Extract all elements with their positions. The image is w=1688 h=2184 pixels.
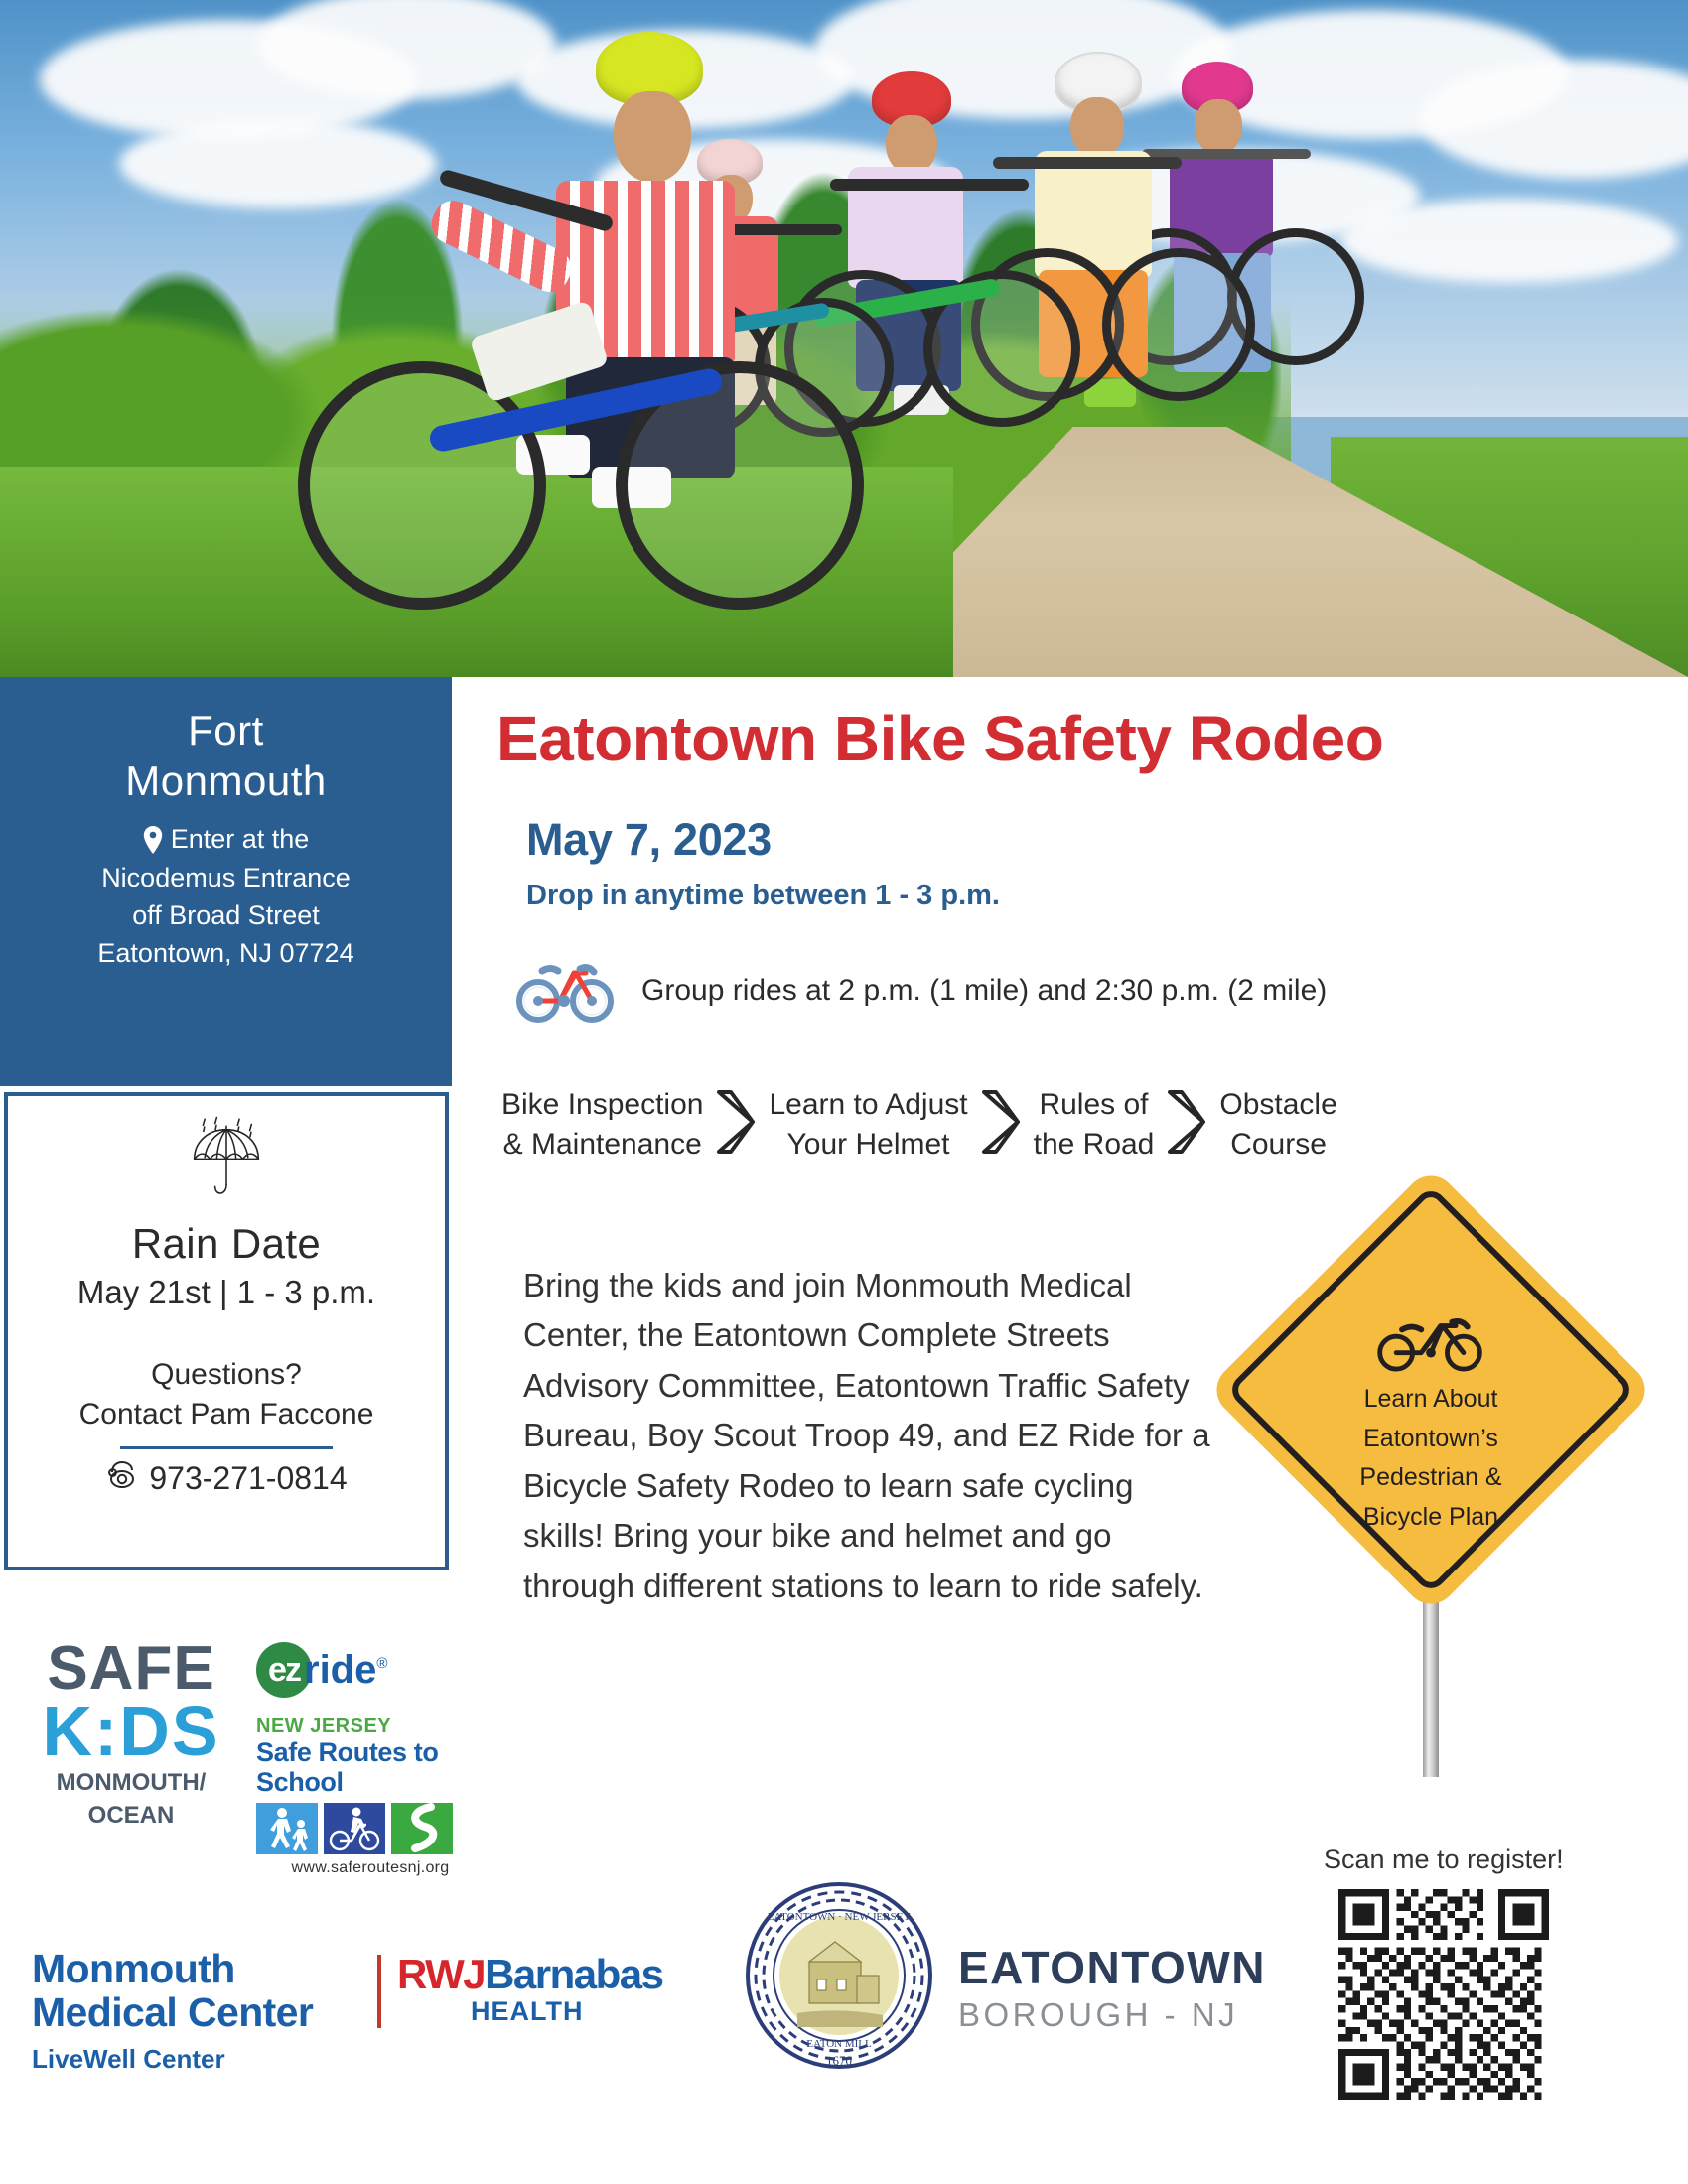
address-line-1-wrap: Enter at the <box>22 820 430 858</box>
rwj-initials: RWJ <box>397 1951 485 1997</box>
eatontown-wordmark: EATONTOWN BOROUGH - NJ <box>958 1941 1266 2034</box>
safe-routes-logo: NEW JERSEY Safe Routes to School <box>256 1715 485 1877</box>
chevron-right-icon <box>1164 1086 1209 1162</box>
safe-routes-name: Safe Routes to School <box>256 1738 485 1797</box>
rain-date-title: Rain Date <box>8 1220 445 1268</box>
sign-line-2: Eatontown’s <box>1296 1423 1566 1456</box>
group-rides-row: Group rides at 2 p.m. (1 mile) and 2:30 … <box>516 953 1327 1027</box>
qr-label: Scan me to register! <box>1324 1844 1564 1875</box>
bicycle-icon <box>516 953 616 1027</box>
bicycle-icon <box>1372 1359 1489 1376</box>
mmc-subtitle: LiveWell Center <box>32 2044 313 2075</box>
station-step: Learn to Adjust Your Helmet <box>769 1085 967 1163</box>
phone-row[interactable]: 973-271-0814 <box>8 1459 445 1497</box>
contact-name: Contact Pam Faccone <box>8 1395 445 1434</box>
divider <box>120 1446 333 1449</box>
safe-routes-state: NEW JERSEY <box>256 1715 485 1738</box>
body-paragraph: Bring the kids and join Monmouth Medical… <box>523 1261 1218 1611</box>
event-date: May 7, 2023 <box>526 814 772 866</box>
safe-routes-url[interactable]: www.saferoutesnj.org <box>256 1859 485 1877</box>
flyer-page: Fort Monmouth Enter at the Nicodemus Ent… <box>0 0 1688 2184</box>
safe-kids-safe: SAFE <box>32 1640 230 1699</box>
logo-divider <box>377 1955 381 2028</box>
hero-photo <box>0 0 1688 677</box>
mmc-line-2: Medical Center <box>32 1991 313 2035</box>
registered-mark: ® <box>376 1655 387 1672</box>
mmc-line-1: Monmouth <box>32 1948 313 1991</box>
panel-title-line1: Fort <box>22 705 430 755</box>
seal-inner-text: EATON MILL <box>806 2038 872 2050</box>
rain-date-box: Rain Date May 21st | 1 - 3 p.m. Question… <box>4 1092 449 1570</box>
drop-in-time: Drop in anytime between 1 - 3 p.m. <box>526 880 1000 912</box>
face <box>886 115 937 175</box>
bike-plan-sign[interactable]: Learn About Eatontown’s Pedestrian & Bic… <box>1236 1231 1633 1787</box>
address-line-2: Nicodemus Entrance <box>22 859 430 896</box>
phone-number: 973-271-0814 <box>149 1460 347 1497</box>
eatontown-seal: EATONTOWN · NEW JERSEY EATON MILL 1670 <box>740 1876 938 2080</box>
safe-kids-chapter-line2: OCEAN <box>32 1803 230 1829</box>
telephone-icon <box>105 1459 139 1497</box>
address-line-3: off Broad Street <box>22 896 430 934</box>
ez-ride-logo: ezride® <box>256 1642 455 1698</box>
sign-line-3: Pedestrian & <box>1296 1461 1566 1495</box>
face <box>614 91 691 183</box>
safe-kids-chapter-line1: MONMOUTH/ <box>32 1770 230 1796</box>
location-pin-icon <box>143 826 163 854</box>
wheel <box>1102 248 1255 401</box>
rwj-barnabas-logo: RWJBarnabas HEALTH <box>397 1951 663 2027</box>
safe-kids-logo: SAFE K:DS MONMOUTH/ OCEAN <box>32 1640 230 1829</box>
questions-block: Questions? Contact Pam Faccone <box>8 1355 445 1434</box>
rwj-barnabas-word: Barnabas <box>485 1951 662 1997</box>
seal-outer-text: EATONTOWN · NEW JERSEY <box>768 1911 912 1923</box>
chevron-right-icon <box>978 1086 1024 1162</box>
rwj-wordmark: RWJBarnabas <box>397 1951 663 1998</box>
station-step: Rules of the Road <box>1034 1085 1155 1163</box>
chevron-right-icon <box>713 1086 759 1162</box>
face <box>1195 99 1242 155</box>
handlebar <box>830 179 1029 191</box>
address-line-4: Eatontown, NJ 07724 <box>22 934 430 972</box>
cloud <box>1340 199 1678 283</box>
umbrella-rain-icon <box>8 1112 445 1216</box>
sign-line-4: Bicycle Plan <box>1296 1501 1566 1535</box>
location-panel: Fort Monmouth Enter at the Nicodemus Ent… <box>0 677 452 1086</box>
safe-routes-tiles <box>256 1803 485 1854</box>
eatontown-title: EATONTOWN <box>958 1941 1266 1994</box>
sign-line-1: Learn About <box>1296 1383 1566 1417</box>
questions-label: Questions? <box>8 1355 445 1395</box>
stations-flow: Bike Inspection & Maintenance Learn to A… <box>501 1085 1663 1163</box>
sign-content: Learn About Eatontown’s Pedestrian & Bic… <box>1296 1312 1566 1534</box>
page-title: Eatontown Bike Safety Rodeo <box>496 707 1668 770</box>
ez-ride-word: ride <box>304 1648 376 1692</box>
panel-title: Fort Monmouth <box>22 705 430 806</box>
wheel <box>298 361 546 610</box>
safe-kids-kids: K:DS <box>32 1699 230 1765</box>
address-line-1: Enter at the <box>171 824 310 854</box>
panel-title-line2: Monmouth <box>22 755 430 806</box>
rwj-health-word: HEALTH <box>471 1996 663 2027</box>
rain-date-value: May 21st | 1 - 3 p.m. <box>8 1274 445 1311</box>
face <box>1070 97 1124 159</box>
qr-block[interactable]: Scan me to register! <box>1324 1844 1564 2100</box>
monmouth-medical-logo: Monmouth Medical Center LiveWell Center <box>32 1948 313 2075</box>
panel-address: Enter at the Nicodemus Entrance off Broa… <box>22 820 430 972</box>
handlebar <box>993 157 1182 169</box>
station-step: Obstacle Course <box>1219 1085 1336 1163</box>
pedestrian-icon <box>256 1803 318 1854</box>
station-step: Bike Inspection & Maintenance <box>501 1085 703 1163</box>
group-rides-text: Group rides at 2 p.m. (1 mile) and 2:30 … <box>641 974 1327 1008</box>
eatontown-subtitle: BOROUGH - NJ <box>958 1996 1266 2034</box>
road-icon <box>391 1803 453 1854</box>
bicycle-icon <box>324 1803 385 1854</box>
seal-year: 1670 <box>826 2053 852 2068</box>
qr-code[interactable] <box>1338 1889 1549 2100</box>
